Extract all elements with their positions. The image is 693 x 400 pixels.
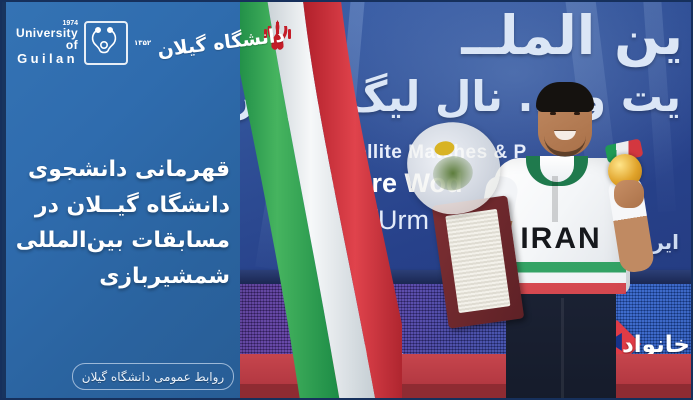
shirt-country-label: IRAN	[496, 222, 626, 256]
headline-line: شمشیربازی	[6, 259, 230, 295]
athlete-trousers	[506, 284, 616, 398]
backdrop-persian-line-1: ین الملــ	[461, 4, 683, 67]
shirt-placket	[552, 176, 558, 222]
page-title: قهرمانی دانشجوی دانشگاه گیــلان در مسابق…	[6, 152, 230, 295]
public-relations-badge[interactable]: روابط عمومی دانشگاه گیلان	[72, 363, 234, 390]
news-banner: ین الملــ یت و ... نال لیگ بر تر Satelli…	[0, 0, 693, 400]
headline-line: مسابقات بین‌المللی	[6, 223, 230, 259]
university-logo[interactable]: 1974 University of Guilan ۱۳۵۲	[16, 20, 222, 66]
athlete-eye	[574, 112, 580, 115]
headline-line: دانشگاه گیــلان در	[6, 188, 230, 224]
public-relations-badge-label: روابط عمومی دانشگاه گیلان	[82, 370, 224, 384]
headline-line: قهرمانی دانشجوی	[6, 152, 230, 188]
logo-line-1: University of	[16, 27, 78, 53]
athlete-figure: S IRAN	[482, 72, 672, 398]
athlete-eye	[550, 112, 556, 115]
logo-english-text: 1974 University of Guilan	[16, 20, 78, 67]
logo-year-persian: ۱۳۵۲	[134, 40, 151, 47]
athlete-hair	[536, 82, 594, 112]
guilan-university-emblem-icon	[84, 21, 128, 65]
athlete-right-hand	[614, 180, 644, 208]
logo-line-2: Guilan	[16, 52, 78, 66]
title-panel: 1974 University of Guilan ۱۳۵۲	[2, 2, 240, 400]
